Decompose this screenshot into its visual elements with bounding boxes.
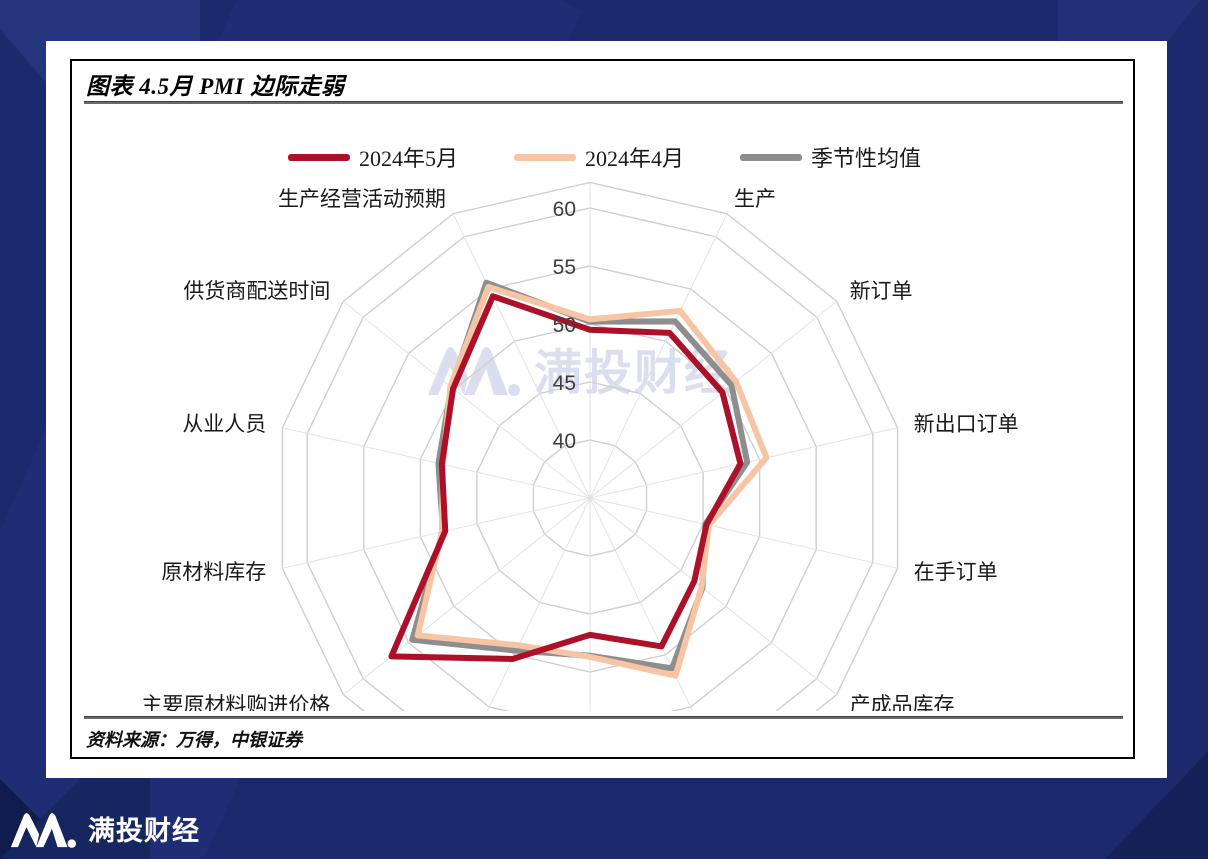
- radar-axis-labels: PMI生产新订单新出口订单在手订单产成品库存采购量进口出厂价格主要原材料购进价格…: [141, 171, 1018, 711]
- brand-footer: 满投财经: [8, 805, 200, 851]
- radar-spoke-8: [453, 498, 590, 711]
- legend-swatch-may: [288, 154, 350, 161]
- radar-axis-label-9: 主要原材料购进价格: [141, 693, 330, 711]
- brand-name: 满投财经: [88, 809, 200, 848]
- radar-spokes: [282, 182, 897, 711]
- radial-tick-45: 45: [553, 372, 576, 395]
- radar-axis-label-11: 从业人员: [182, 412, 266, 436]
- radar-spoke-9: [343, 498, 590, 695]
- radar-axis-label-5: 产成品库存: [850, 693, 955, 711]
- slide-canvas: 图表 4.5月 PMI 边际走弱 2024年5月 2024年4月 季节性均值: [0, 0, 1208, 859]
- legend-label-seasonal: 季节性均值: [811, 141, 921, 173]
- chart-legend: 2024年5月 2024年4月 季节性均值: [72, 141, 1137, 173]
- radial-axis-title: PMI: [596, 171, 635, 175]
- radar-axis-label-4: 在手订单: [914, 560, 998, 584]
- chart-title: 图表 4.5月 PMI 边际走弱: [86, 67, 344, 101]
- source-divider: [84, 716, 1123, 719]
- legend-label-may: 2024年5月: [359, 141, 458, 173]
- radar-axis-label-13: 生产经营活动预期: [278, 187, 446, 211]
- legend-swatch-seasonal: [740, 154, 802, 161]
- radar-axis-label-1: 生产: [734, 187, 776, 211]
- legend-item-seasonal[interactable]: 季节性均值: [740, 141, 921, 173]
- figure-card-border: 图表 4.5月 PMI 边际走弱 2024年5月 2024年4月 季节性均值: [70, 59, 1135, 759]
- legend-label-april: 2024年4月: [585, 141, 684, 173]
- radar-series-0: [391, 296, 740, 659]
- radar-tick-labels: 4045505560: [553, 198, 576, 453]
- legend-item-may[interactable]: 2024年5月: [288, 141, 458, 173]
- legend-item-april[interactable]: 2024年4月: [514, 141, 684, 173]
- radar-series: [391, 283, 766, 676]
- radial-tick-40: 40: [553, 430, 576, 453]
- radar-axis-label-12: 供货商配送时间: [183, 279, 330, 303]
- radar-axis-label-2: 新订单: [850, 279, 913, 303]
- manto-m-logo-icon: [8, 805, 76, 851]
- radial-tick-50: 50: [553, 314, 576, 337]
- radial-tick-55: 55: [553, 256, 576, 279]
- radar-chart: 4045505560 PMI生产新订单新出口订单在手订单产成品库存采购量进口出厂…: [72, 171, 1137, 711]
- radial-tick-60: 60: [553, 198, 576, 221]
- chart-source: 资料来源：万得，中银证券: [86, 726, 302, 752]
- title-divider: [84, 101, 1123, 104]
- radar-axis-label-3: 新出口订单: [914, 412, 1019, 436]
- radar-axis-label-10: 原材料库存: [161, 560, 266, 584]
- figure-card: 图表 4.5月 PMI 边际走弱 2024年5月 2024年4月 季节性均值: [46, 41, 1167, 778]
- legend-swatch-april: [514, 154, 576, 161]
- radar-chart-svg: 4045505560 PMI生产新订单新出口订单在手订单产成品库存采购量进口出厂…: [72, 171, 1137, 711]
